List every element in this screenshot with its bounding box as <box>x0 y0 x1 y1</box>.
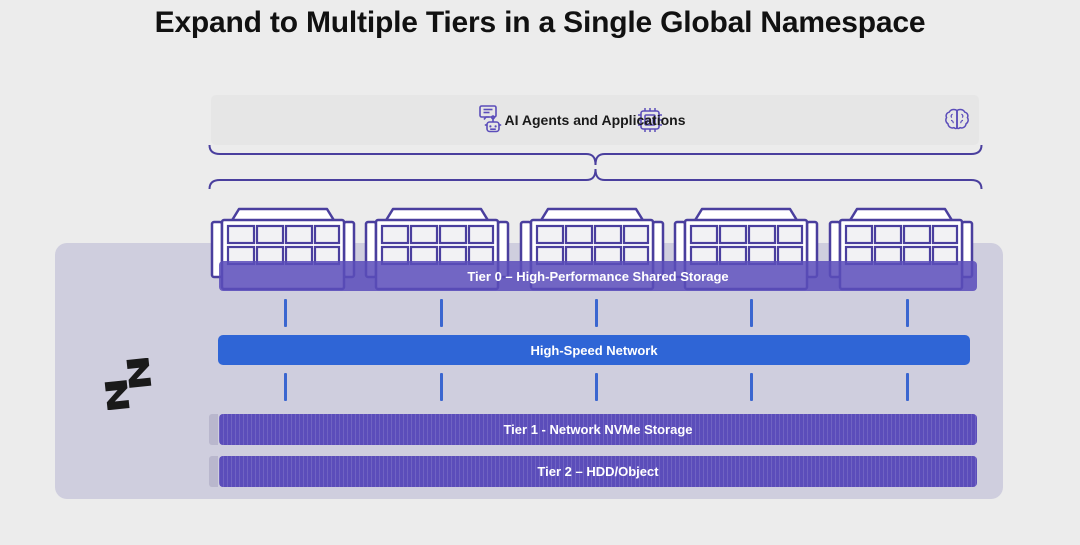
page-title: Expand to Multiple Tiers in a Single Glo… <box>0 6 1080 40</box>
connector-line <box>440 373 443 401</box>
tier-1-bar: Tier 1 - Network NVMe Storage <box>219 414 977 445</box>
connector-line <box>440 299 443 327</box>
tier-0-bar: Tier 0 – High-Performance Shared Storage <box>219 261 977 291</box>
tier-2-bar: Tier 2 – HDD/Object <box>219 456 977 487</box>
tier-2-stub <box>209 456 218 487</box>
ai-agents-bar: AI AI Agents and Applications <box>211 95 979 145</box>
brace-top <box>208 143 983 167</box>
tier-1-stub <box>209 414 218 445</box>
connector-line <box>906 299 909 327</box>
interlocking-s-logo <box>101 358 155 410</box>
slide-canvas: Expand to Multiple Tiers in a Single Glo… <box>0 0 1080 545</box>
brain-icon <box>937 100 977 140</box>
connector-line <box>595 299 598 327</box>
brace-bot <box>208 167 983 191</box>
connector-line <box>906 373 909 401</box>
connector-line <box>750 299 753 327</box>
connector-line <box>284 299 287 327</box>
connector-line <box>595 373 598 401</box>
connector-line <box>750 373 753 401</box>
connector-line <box>284 373 287 401</box>
ai-agents-label: AI Agents and Applications <box>211 112 979 128</box>
high-speed-network-bar: High-Speed Network <box>218 335 970 365</box>
